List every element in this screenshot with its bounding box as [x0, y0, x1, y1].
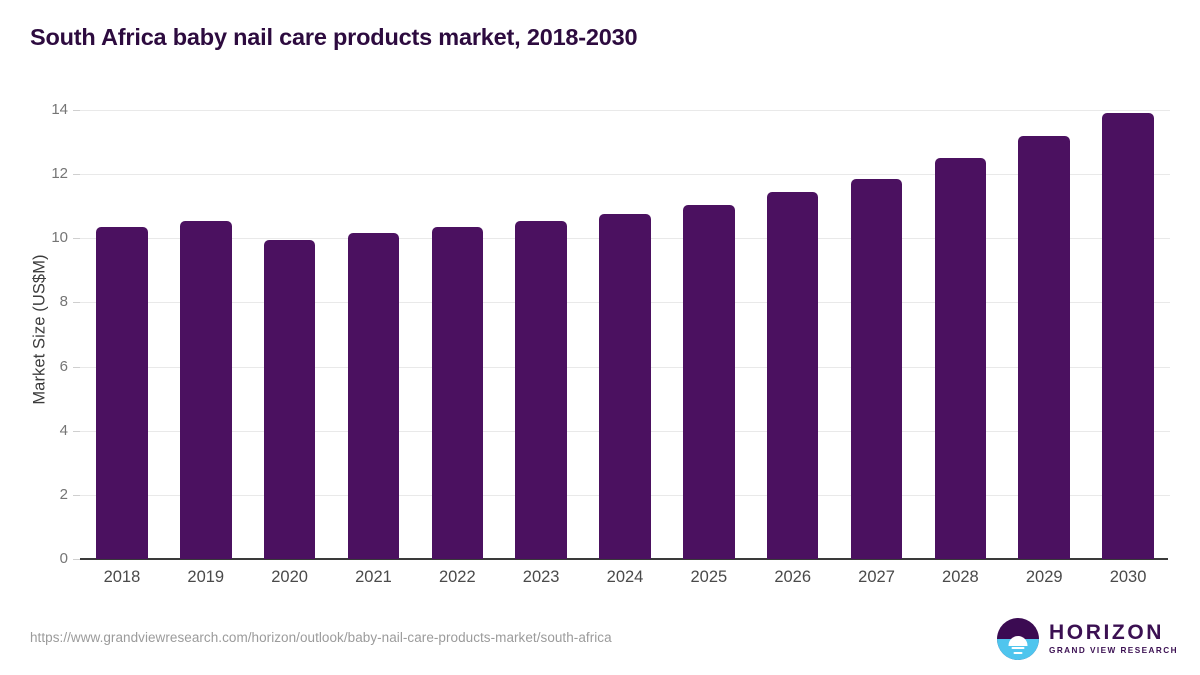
- bar-2024[interactable]: [599, 214, 651, 559]
- x-axis-tick-label: 2028: [920, 568, 1000, 587]
- horizon-logo: HORIZON GRAND VIEW RESEARCH: [997, 618, 1178, 660]
- bar-2029[interactable]: [1018, 136, 1070, 559]
- y-axis-tick-label: 10: [28, 229, 68, 246]
- logo-ray-1-icon: [1010, 643, 1027, 645]
- x-axis-tick-label: 2026: [753, 568, 833, 587]
- y-axis-tick-label: 14: [28, 101, 68, 118]
- x-axis-tick-label: 2020: [250, 568, 330, 587]
- y-axis-tick-mark: [73, 431, 80, 432]
- x-axis-tick-label: 2024: [585, 568, 665, 587]
- y-axis-tick-mark: [73, 110, 80, 111]
- y-axis-tick-label: 4: [28, 422, 68, 439]
- y-axis-tick-label: 6: [28, 358, 68, 375]
- bar-2030[interactable]: [1102, 113, 1154, 559]
- gridline: [80, 110, 1170, 111]
- bar-2023[interactable]: [515, 221, 567, 559]
- y-axis-tick-mark: [73, 367, 80, 368]
- logo-name: HORIZON: [1049, 622, 1178, 643]
- x-axis-tick-label: 2018: [82, 568, 162, 587]
- y-axis-title: Market Size (US$M): [31, 130, 50, 530]
- y-axis-tick-mark: [73, 495, 80, 496]
- logo-tagline: GRAND VIEW RESEARCH: [1049, 647, 1178, 655]
- x-axis-tick-label: 2023: [501, 568, 581, 587]
- horizon-logo-text: HORIZON GRAND VIEW RESEARCH: [1049, 622, 1178, 655]
- x-axis-tick-label: 2019: [166, 568, 246, 587]
- horizon-logo-icon: [997, 618, 1039, 660]
- x-axis-tick-label: 2029: [1004, 568, 1084, 587]
- y-axis-tick-label: 12: [28, 165, 68, 182]
- x-axis-tick-label: 2030: [1088, 568, 1168, 587]
- x-axis-tick-label: 2022: [417, 568, 497, 587]
- bar-2019[interactable]: [180, 221, 232, 559]
- y-axis-tick-mark: [73, 238, 80, 239]
- bar-2027[interactable]: [851, 179, 903, 559]
- chart-plot-area: Market Size (US$M) 02468101214 201820192…: [0, 0, 1200, 675]
- y-axis-tick-label: 8: [28, 293, 68, 310]
- y-axis-tick-mark: [73, 559, 80, 560]
- logo-ray-3-icon: [1014, 652, 1023, 654]
- bar-2018[interactable]: [96, 227, 148, 559]
- x-axis-tick-label: 2027: [837, 568, 917, 587]
- x-axis-tick-label: 2021: [333, 568, 413, 587]
- y-axis-tick-mark: [73, 302, 80, 303]
- gridline: [80, 174, 1170, 175]
- bar-2022[interactable]: [432, 227, 484, 559]
- bar-2026[interactable]: [767, 192, 819, 559]
- bar-2020[interactable]: [264, 240, 316, 559]
- y-axis-tick-mark: [73, 174, 80, 175]
- bar-2021[interactable]: [348, 233, 400, 559]
- x-axis-tick-label: 2025: [669, 568, 749, 587]
- chart-card: South Africa baby nail care products mar…: [0, 0, 1200, 675]
- y-axis-tick-label: 0: [28, 550, 68, 567]
- source-url[interactable]: https://www.grandviewresearch.com/horizo…: [30, 630, 612, 645]
- y-axis-tick-label: 2: [28, 486, 68, 503]
- logo-ray-2-icon: [1012, 647, 1025, 649]
- bar-2025[interactable]: [683, 205, 735, 559]
- bar-2028[interactable]: [935, 158, 987, 559]
